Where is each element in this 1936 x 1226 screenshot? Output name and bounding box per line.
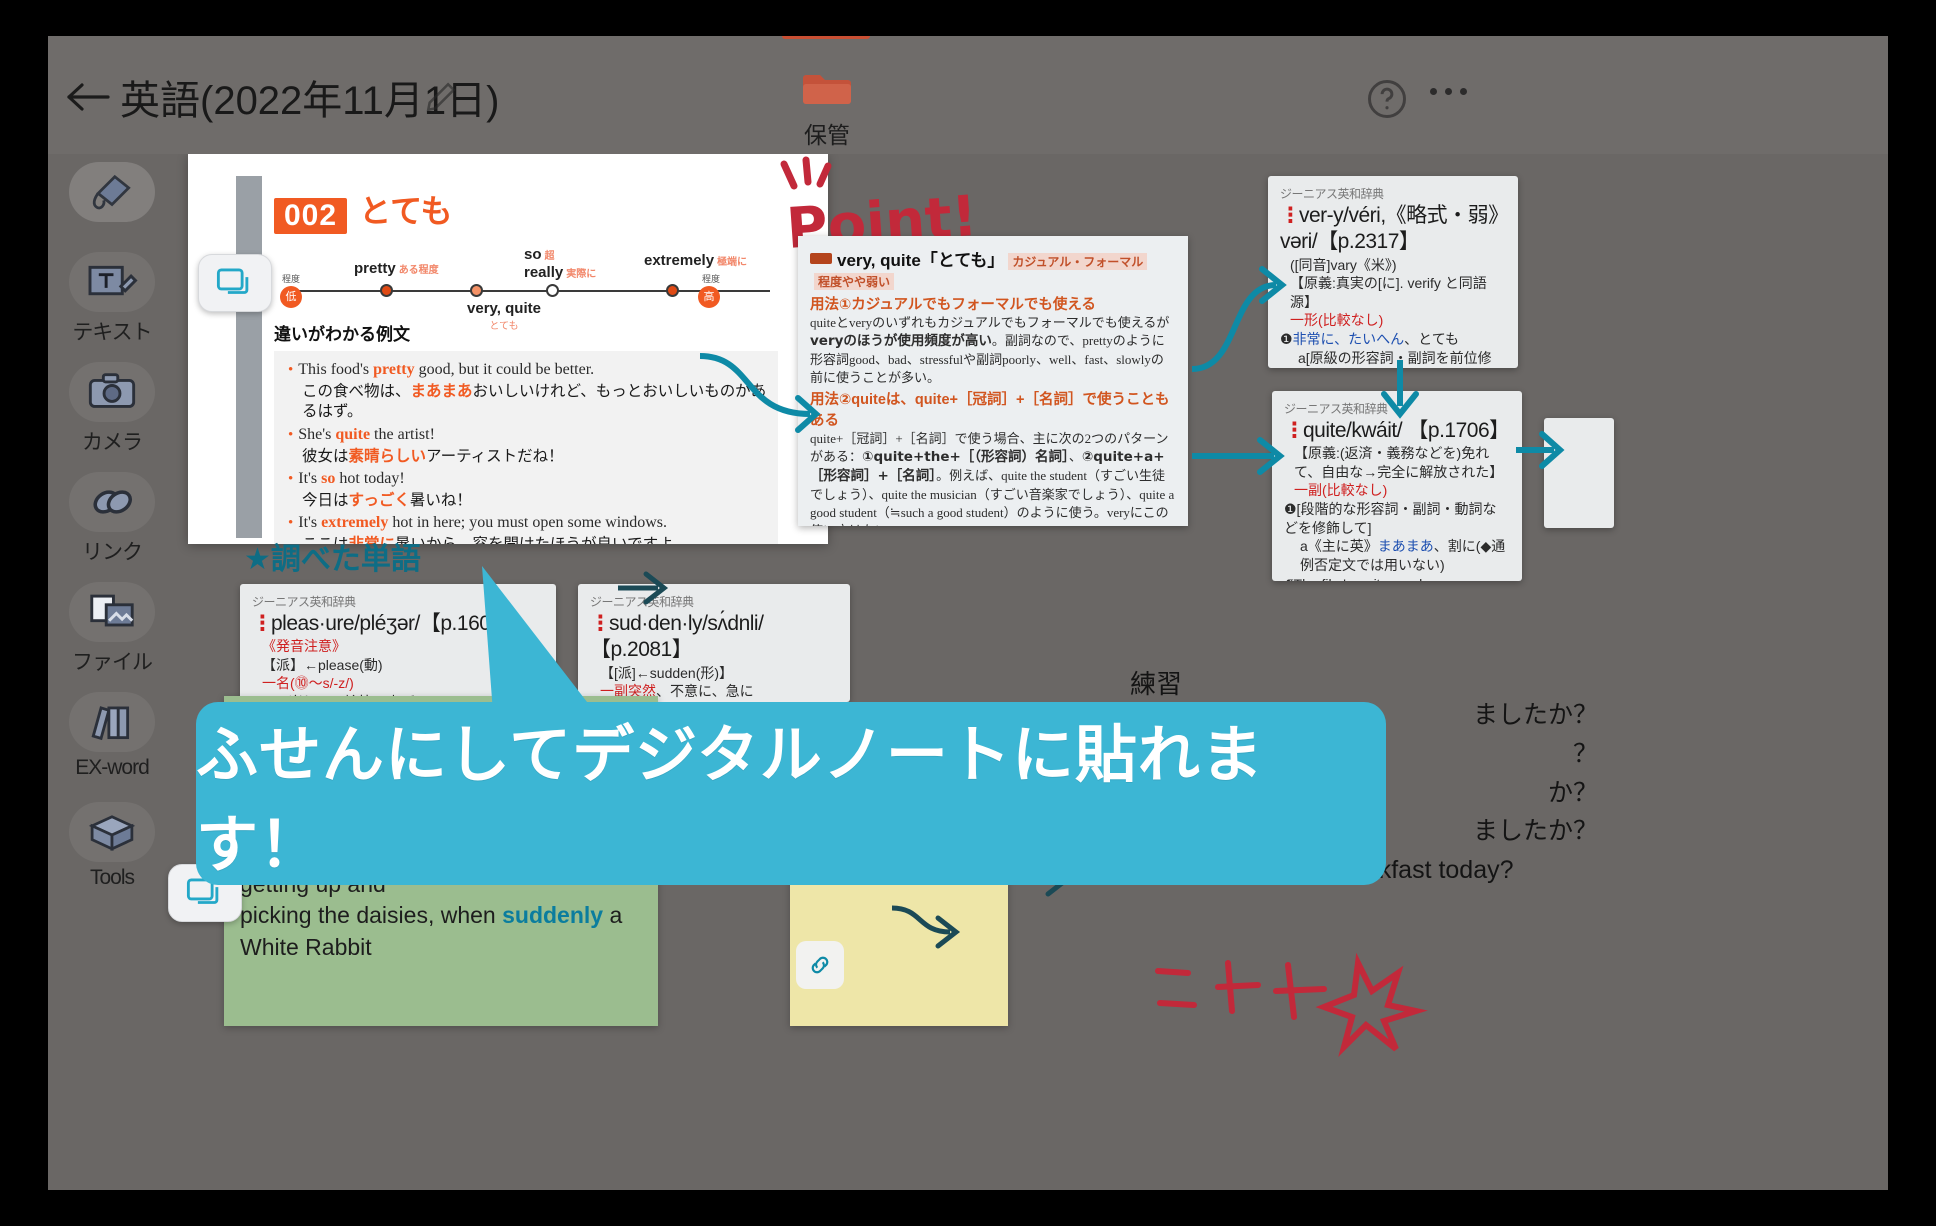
books-icon — [87, 701, 137, 743]
dictionary-card-quite[interactable]: ジーニアス英和辞典 ⋮quite/kwáit/ 【p.1706】 【原義:(返済… — [1272, 391, 1522, 581]
scale-axis-line — [284, 290, 770, 292]
highlighter-pen-icon — [87, 171, 137, 213]
dictionary-line: 【原義:真実の[に]. verify と同語源】 — [1280, 274, 1506, 311]
app-header: 英語(2022年11月1日) 保管 — [48, 36, 1888, 154]
link-chip[interactable] — [796, 941, 844, 989]
tool-label: カメラ — [62, 426, 162, 456]
tool-link[interactable]: リンク — [62, 472, 162, 566]
scale-label-really: really実際に — [524, 264, 596, 281]
dictionary-line: 一形(比較なし) — [1280, 311, 1506, 330]
callout-text: ふせんにしてデジタルノートに貼れます！ — [196, 704, 1386, 884]
scale-degree-low-badge: 低 — [280, 286, 302, 308]
tool-label: EX-word — [62, 756, 162, 780]
box-tools-icon — [86, 811, 138, 853]
inset-page-number: 002 — [274, 198, 347, 234]
tool-label: テキスト — [62, 316, 162, 346]
example-item: It's so hot today! 今日はすっごく暑いね！ — [288, 468, 768, 510]
scale-dot-2 — [470, 284, 483, 297]
tool-file[interactable]: ファイル — [62, 582, 162, 676]
section-label-studied-words: ★調べた単語 — [244, 534, 421, 578]
usage-1-body: quiteとveryのいずれもカジュアルでもフォーマルでも使えるがveryのほう… — [810, 314, 1176, 386]
scale-dot-4 — [666, 284, 679, 297]
tool-exword[interactable]: EX-word — [62, 692, 162, 780]
dictionary-line: a《主に英》まあまあ、割に(◆通例否定文では用いない) — [1284, 537, 1510, 574]
usage-2-heading: 用法②quiteは、quite+［冠詞］+［名詞］で使うこともある — [810, 388, 1176, 430]
tool-text[interactable]: テキスト — [62, 252, 162, 346]
example-item: She's quite the artist! 彼女は素晴らしいアーティストだね… — [288, 424, 768, 466]
dictionary-headword: ⋮quite/kwáit/ 【p.1706】 — [1284, 418, 1510, 444]
dictionary-line: ¶The film's quite good. — [1284, 575, 1510, 581]
dictionary-line: a[原級の形容詞・副詞を前位修飾] — [1280, 349, 1506, 368]
dictionary-headword: ⋮ver-y/véri,《略式・弱》vəri/【p.2317】 — [1280, 203, 1506, 256]
scale-degree-low-tag: 程度 — [282, 272, 300, 285]
dictionary-line: 【原義:(返済・義務などを)免れて、自由な→完全に解放された】 — [1284, 444, 1510, 481]
scale-degree-high-tag: 程度 — [702, 272, 720, 285]
dictionary-line: ([同音]vary《米》) — [1280, 256, 1506, 275]
back-button[interactable] — [64, 80, 110, 114]
link-chain-icon — [87, 481, 137, 523]
dictionary-line: ❶非常に、たいへん、とても — [1280, 330, 1506, 349]
file-image-icon — [86, 591, 138, 633]
dictionary-line: 一副(比較なし) — [1284, 481, 1510, 500]
dictionary-line: ❶[段階的な形容詞・副詞・動詞などを修飾して] — [1284, 500, 1510, 537]
tool-tools[interactable]: Tools — [62, 802, 162, 890]
overflow-menu-icon — [1430, 88, 1437, 95]
dictionary-headword: ⋮sud·den·ly/sʌ́dnli/【p.2081】 — [590, 611, 838, 664]
question-mark-icon — [1366, 78, 1408, 120]
scale-label-so: so超 — [524, 246, 555, 263]
folder-icon — [799, 68, 855, 112]
sticky-note-icon — [216, 267, 254, 299]
lead-marker-icon — [810, 253, 832, 264]
edit-title-button[interactable] — [424, 80, 458, 114]
store-label: 保管 — [762, 116, 892, 150]
scale-center-label: very, quiteとても — [434, 300, 574, 332]
inset-page-content: 002とても prettyある程度 so超 really実際に extremel… — [236, 176, 792, 538]
scale-dot-3 — [546, 284, 559, 297]
scale-dot-1 — [380, 284, 393, 297]
overflow-menu-button[interactable] — [1430, 88, 1476, 110]
chip-register: カジュアル・フォーマル — [1008, 253, 1147, 270]
tool-camera[interactable]: カメラ — [62, 362, 162, 456]
tool-label: リンク — [62, 536, 162, 566]
dictionary-line: 【[派]←sudden(形)】 — [590, 664, 838, 683]
camera-icon — [86, 371, 138, 413]
example-item: This food's pretty good, but it could be… — [288, 359, 768, 422]
chip-degree: 程度やや弱い — [814, 273, 894, 290]
dictionary-card-partial-offscreen[interactable] — [1544, 418, 1614, 528]
inset-page-heading: 002とても — [274, 186, 778, 234]
feature-callout-banner: ふせんにしてデジタルノートに貼れます！ — [196, 702, 1386, 885]
handwritten-red-ink — [1148, 951, 1468, 1061]
tool-label: Tools — [62, 866, 162, 890]
tool-label: ファイル — [62, 646, 162, 676]
dictionary-card-suddenly[interactable]: ジーニアス英和辞典 ⋮sud·den·ly/sʌ́dnli/【p.2081】 【… — [578, 584, 850, 702]
link-chain-icon — [807, 952, 833, 978]
point-card-header: very, quite「とても」カジュアル・フォーマル程度やや弱い — [810, 246, 1176, 291]
usage-1-heading: 用法①カジュアルでもフォーマルでも使える — [810, 293, 1176, 314]
dictionary-source: ジーニアス英和辞典 — [1284, 400, 1510, 417]
back-arrow-icon — [64, 80, 110, 114]
examples-list: This food's pretty good, but it could be… — [274, 351, 778, 544]
intensity-scale: prettyある程度 so超 really実際に extremely極端に 程度… — [274, 244, 778, 318]
inset-page-word: とても — [359, 193, 452, 229]
help-button[interactable] — [1366, 78, 1408, 120]
dictionary-source: ジーニアス英和辞典 — [1280, 185, 1506, 202]
tablet-device-frame: 002とても prettyある程度 so超 really実際に extremel… — [0, 0, 1936, 1226]
dictionary-source: ジーニアス英和辞典 — [590, 593, 838, 610]
callout-pointer-tail — [454, 556, 614, 726]
scale-degree-high-badge: 高 — [698, 286, 720, 308]
app-screen: 002とても prettyある程度 so超 really実際に extremel… — [48, 36, 1888, 1190]
sticker-fab-top[interactable] — [198, 254, 272, 312]
note-canvas[interactable]: 002とても prettyある程度 so超 really実際に extremel… — [48, 36, 1888, 1190]
scale-label-extremely: extremely極端に — [644, 252, 747, 269]
tool-rail: テキスト カメラ — [48, 154, 178, 1190]
scale-label-pretty: prettyある程度 — [354, 260, 439, 277]
canvas-image-object[interactable]: 002とても prettyある程度 so超 really実際に extremel… — [188, 154, 828, 544]
text-note-icon — [85, 260, 139, 304]
store-active-indicator — [782, 36, 870, 39]
green-note-line: picking the daisies, when suddenly a Whi… — [240, 900, 642, 963]
pencil-icon — [424, 80, 458, 114]
dictionary-point-card[interactable]: very, quite「とても」カジュアル・フォーマル程度やや弱い 用法①カジュ… — [798, 236, 1188, 526]
store-button[interactable]: 保管 — [762, 46, 892, 150]
dictionary-card-very[interactable]: ジーニアス英和辞典 ⋮ver-y/véri,《略式・弱》vəri/【p.2317… — [1268, 176, 1518, 368]
usage-2-body: quite+［冠詞］+［名詞］で使う場合、主に次の2つのパターンがある：①qui… — [810, 430, 1176, 526]
tool-highlighter[interactable] — [62, 162, 162, 222]
